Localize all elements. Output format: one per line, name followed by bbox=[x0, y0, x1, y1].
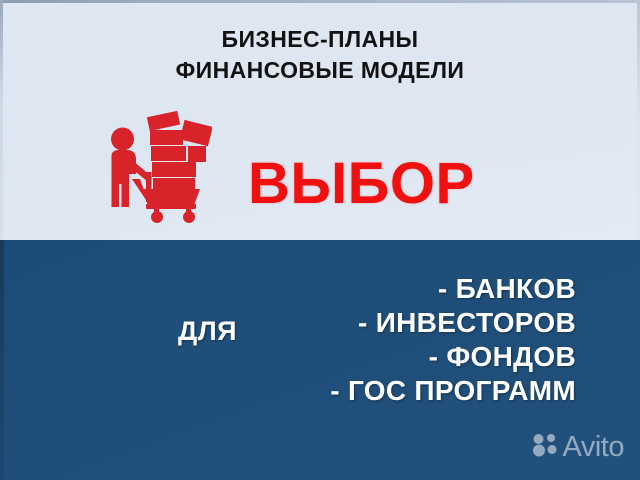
advert-poster: БИЗНЕС-ПЛАНЫ ФИНАНСОВЫЕ МОДЕЛИ bbox=[0, 0, 640, 480]
headline: БИЗНЕС-ПЛАНЫ ФИНАНСОВЫЕ МОДЕЛИ bbox=[0, 24, 640, 87]
audience-list: - БАНКОВ - ИНВЕСТОРОВ - ФОНДОВ - ГОС ПРО… bbox=[156, 272, 576, 408]
list-item: - БАНКОВ bbox=[156, 272, 576, 306]
avito-watermark: Avito bbox=[532, 433, 624, 462]
top-border-line bbox=[0, 0, 640, 3]
bottom-left-border-line bbox=[0, 240, 4, 480]
shopping-cart-icon bbox=[100, 110, 212, 225]
keyword-vybor: ВЫБОР bbox=[248, 155, 475, 213]
list-item: - ГОС ПРОГРАММ bbox=[156, 374, 576, 408]
avito-dots-icon bbox=[532, 433, 558, 462]
headline-line-2: ФИНАНСОВЫЕ МОДЕЛИ bbox=[0, 55, 640, 86]
avito-wordmark: Avito bbox=[563, 433, 624, 462]
list-item: - ФОНДОВ bbox=[156, 340, 576, 374]
headline-line-1: БИЗНЕС-ПЛАНЫ bbox=[222, 26, 419, 52]
list-item: - ИНВЕСТОРОВ bbox=[156, 306, 576, 340]
